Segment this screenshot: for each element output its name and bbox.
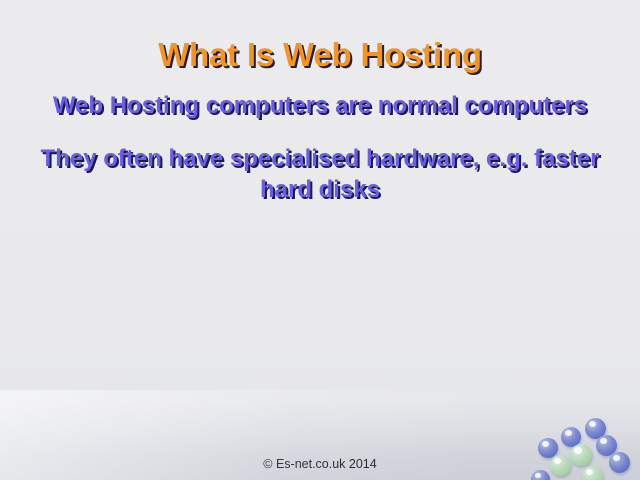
body-paragraph-1: Web Hosting computers are normal compute…: [14, 90, 626, 121]
slide-footer-copyright: © Es-net.co.uk 2014: [0, 457, 640, 471]
body-paragraph-2: They often have specialised hardware, e.…: [14, 143, 626, 205]
slide-body: Web Hosting computers are normal compute…: [14, 90, 626, 205]
decorative-sphere-3: [538, 438, 558, 458]
decorative-sphere-1: [585, 418, 606, 439]
decorative-sphere-4: [596, 435, 617, 456]
slide-title: What Is Web Hosting: [0, 36, 640, 74]
decorative-sphere-2: [561, 427, 581, 447]
slide-canvas: What Is Web Hosting Web Hosting computer…: [0, 0, 640, 480]
decorative-sphere-9: [531, 470, 550, 480]
